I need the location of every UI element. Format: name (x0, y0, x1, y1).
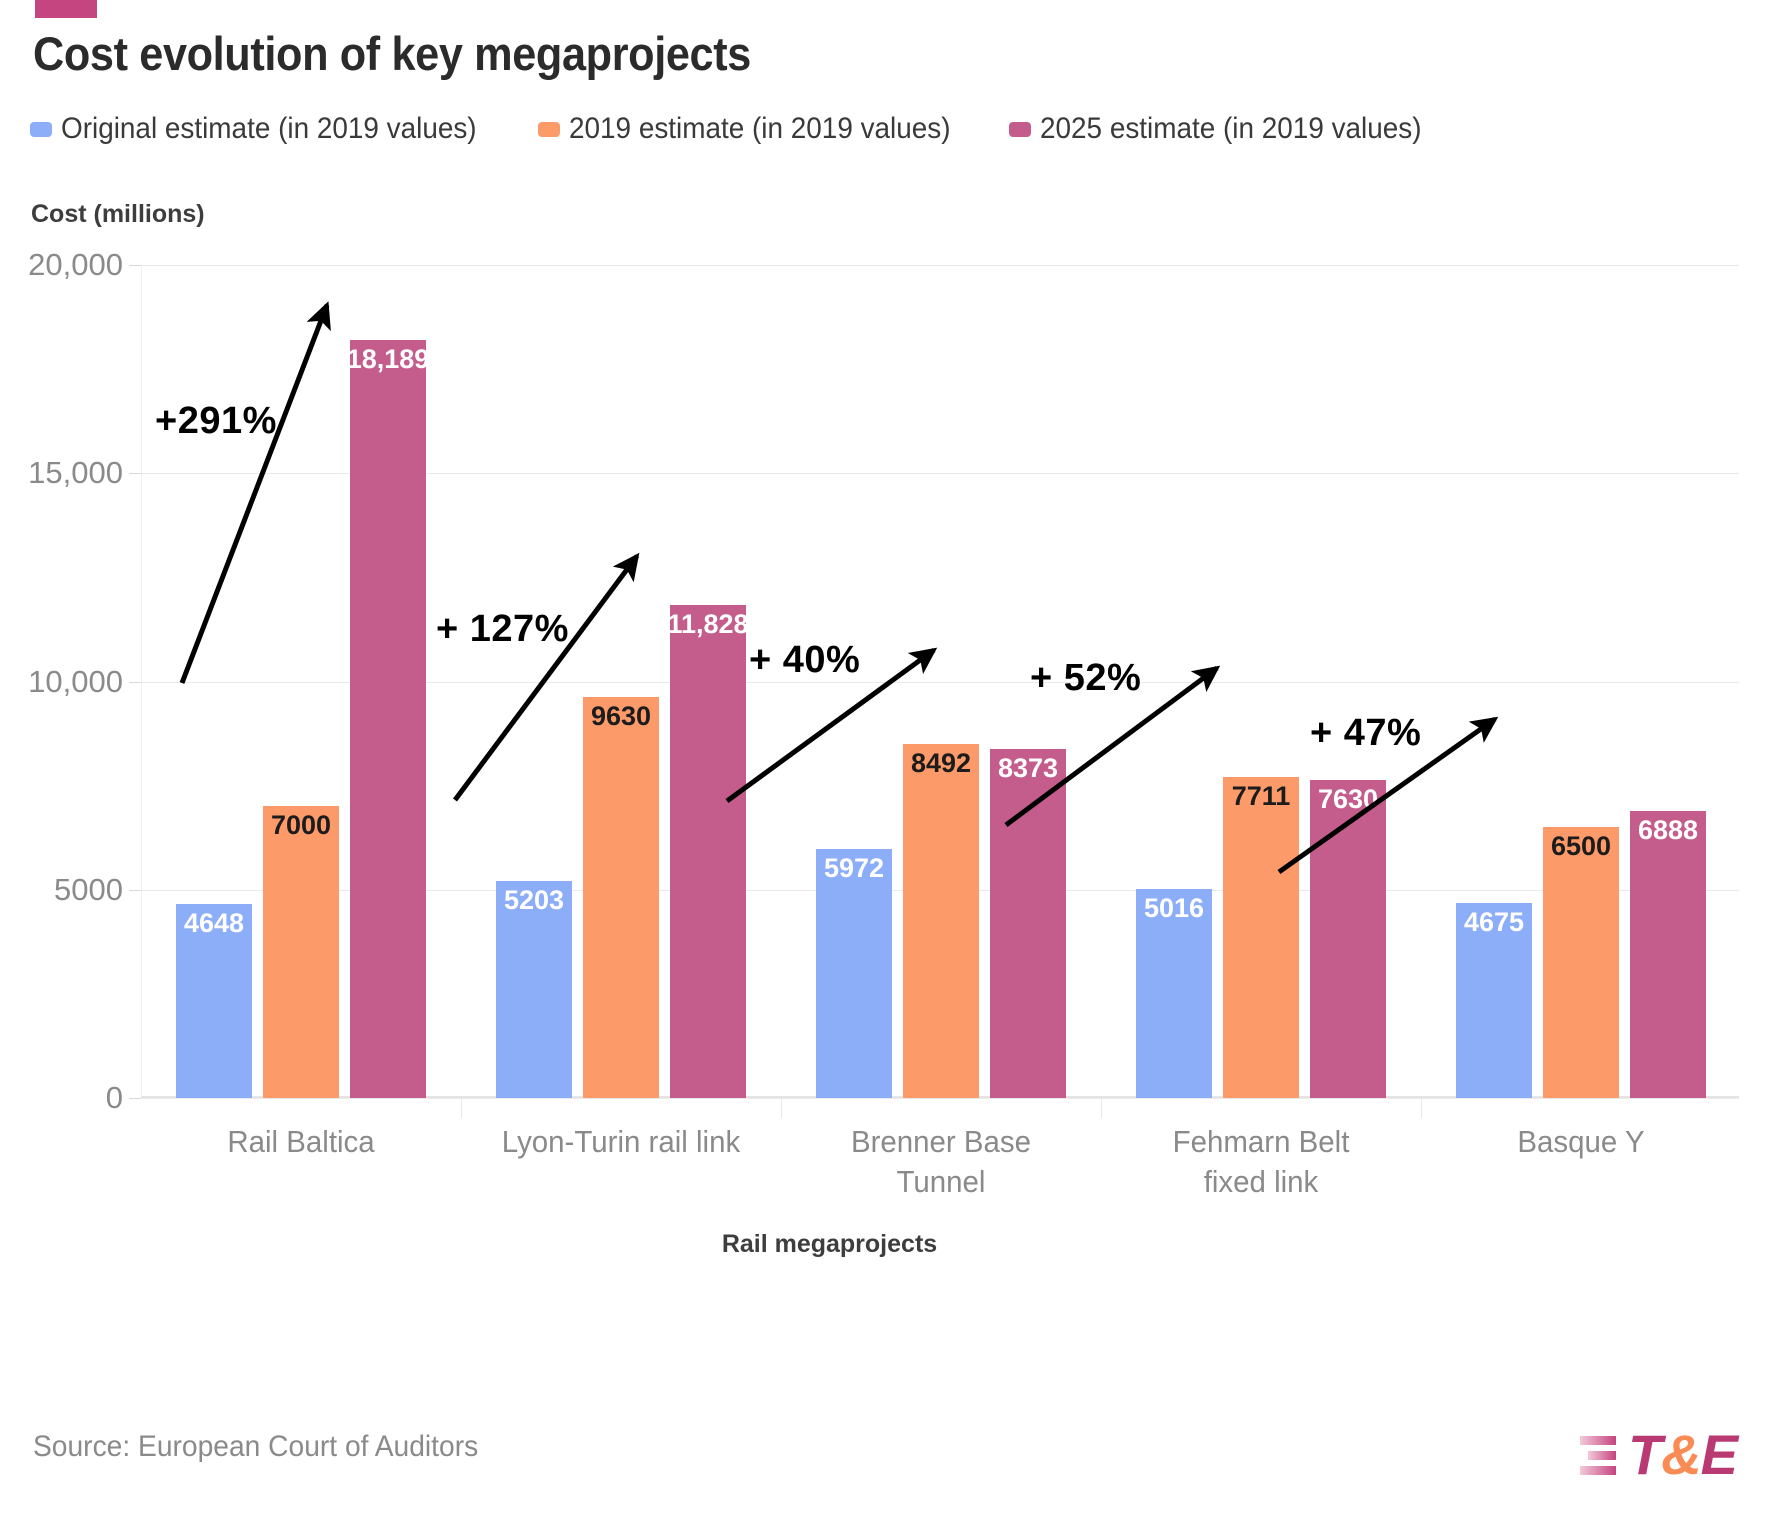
annotation-lyon-turin: + 127% (436, 608, 569, 651)
bar-2025-estimate[interactable]: 6888 (1630, 811, 1706, 1098)
bar-value-label: 9630 (591, 703, 651, 730)
bar-value-label: 7000 (271, 812, 331, 839)
y-tick-label: 15,000 (28, 455, 123, 491)
source-note: Source: European Court of Auditors (33, 1430, 478, 1464)
bar-2019-estimate[interactable]: 7711 (1223, 777, 1299, 1098)
legend-item-2025-estimate[interactable]: 2025 estimate (in 2019 values) (1009, 112, 1450, 146)
bar-original-estimate[interactable]: 4648 (176, 904, 252, 1098)
te-logo-ampersand: & (1661, 1423, 1700, 1486)
bar-group-rail-baltica: 4648 7000 18,189 (141, 265, 461, 1098)
x-tick (461, 1098, 462, 1118)
bar-value-label: 7630 (1318, 786, 1378, 813)
bar-value-label: 8373 (998, 755, 1058, 782)
legend-item-2019-estimate[interactable]: 2019 estimate (in 2019 values) (538, 112, 979, 146)
bar-value-label: 11,828 (667, 611, 748, 638)
bar-value-label: 8492 (911, 750, 971, 777)
legend-label: 2019 estimate (in 2019 values) (569, 112, 951, 146)
tickmark (129, 473, 141, 474)
bar-original-estimate[interactable]: 5016 (1136, 889, 1212, 1098)
te-logo-text: T&E (1628, 1427, 1737, 1483)
bar-original-estimate[interactable]: 4675 (1456, 903, 1532, 1098)
x-category-line: Rail Baltica (149, 1122, 453, 1162)
brand-accent-tab (35, 0, 97, 18)
chart-legend: Original estimate (in 2019 values) 2019 … (30, 112, 1480, 146)
legend-swatch-icon (30, 122, 52, 137)
bar-value-label: 5016 (1144, 895, 1204, 922)
te-logo-t: T (1628, 1423, 1661, 1486)
bar-2025-estimate[interactable]: 18,189 (350, 340, 426, 1098)
x-tick (1421, 1098, 1422, 1118)
bar-original-estimate[interactable]: 5972 (816, 849, 892, 1098)
legend-label: Original estimate (in 2019 values) (61, 112, 477, 146)
y-tick-label: 20,000 (28, 247, 123, 283)
annotation-fehmarn: + 52% (1030, 657, 1141, 700)
x-category-label-lyon-turin-rail-link: Lyon-Turin rail link (469, 1122, 773, 1162)
y-axis-title: Cost (millions) (31, 200, 205, 229)
page-title: Cost evolution of key megaprojects (33, 26, 751, 81)
bar-group-lyon-turin-rail-link: 5203 9630 11,828 (461, 265, 781, 1098)
tickmark (129, 1098, 141, 1099)
legend-label: 2025 estimate (in 2019 values) (1040, 112, 1422, 146)
bar-2019-estimate[interactable]: 6500 (1543, 827, 1619, 1098)
annotation-basque-y: + 47% (1310, 712, 1421, 755)
x-category-line: Tunnel (789, 1162, 1093, 1202)
x-category-line: Basque Y (1429, 1122, 1733, 1162)
bar-group-fehmarn-belt-fixed-link: 5016 7711 7630 (1101, 265, 1421, 1098)
x-category-label-basque-y: Basque Y (1429, 1122, 1733, 1162)
gridline-0: 0 (141, 1098, 1739, 1099)
bar-2025-estimate[interactable]: 11,828 (670, 605, 746, 1098)
y-tick-label: 5000 (54, 872, 123, 908)
x-axis-title: Rail megaprojects (722, 1230, 937, 1258)
bar-value-label: 4675 (1464, 909, 1524, 936)
legend-swatch-icon (538, 122, 560, 137)
bar-value-label: 4648 (184, 910, 244, 937)
x-category-line: fixed link (1109, 1162, 1413, 1202)
bar-2019-estimate[interactable]: 8492 (903, 744, 979, 1098)
x-category-line: Lyon-Turin rail link (469, 1122, 773, 1162)
te-logo-stripes-icon (1580, 1429, 1616, 1481)
annotation-brenner: + 40% (749, 639, 860, 682)
bar-original-estimate[interactable]: 5203 (496, 881, 572, 1098)
legend-swatch-icon (1009, 122, 1031, 137)
x-category-label-rail-baltica: Rail Baltica (149, 1122, 453, 1162)
bar-2025-estimate[interactable]: 7630 (1310, 780, 1386, 1098)
bar-2025-estimate[interactable]: 8373 (990, 749, 1066, 1098)
x-category-line: Fehmarn Belt (1109, 1122, 1413, 1162)
annotation-rail-baltica: +291% (155, 400, 277, 443)
bar-2019-estimate[interactable]: 9630 (583, 697, 659, 1098)
x-tick (781, 1098, 782, 1118)
bar-value-label: 18,189 (347, 346, 430, 373)
chart-plot-area: 20,000 15,000 10,000 5000 0 4648 7000 18… (141, 265, 1739, 1098)
te-logo: T&E (1580, 1425, 1737, 1485)
y-tick-label: 10,000 (28, 664, 123, 700)
bar-value-label: 6888 (1638, 817, 1698, 844)
bar-value-label: 5203 (504, 887, 564, 914)
bar-value-label: 6500 (1551, 833, 1611, 860)
bar-group-basque-y: 4675 6500 6888 (1421, 265, 1741, 1098)
tickmark (129, 890, 141, 891)
bar-2019-estimate[interactable]: 7000 (263, 806, 339, 1098)
legend-item-original-estimate[interactable]: Original estimate (in 2019 values) (30, 112, 508, 146)
bar-value-label: 7711 (1232, 783, 1291, 810)
tickmark (129, 265, 141, 266)
x-tick (1101, 1098, 1102, 1118)
tickmark (129, 682, 141, 683)
x-category-line: Brenner Base (789, 1122, 1093, 1162)
y-tick-label: 0 (106, 1080, 123, 1116)
x-category-label-fehmarn-belt-fixed-link: Fehmarn Belt fixed link (1109, 1122, 1413, 1201)
x-category-label-brenner-base-tunnel: Brenner Base Tunnel (789, 1122, 1093, 1201)
bar-value-label: 5972 (824, 855, 884, 882)
te-logo-e: E (1701, 1423, 1737, 1486)
x-axis-title-wrap: Rail megaprojects (0, 1230, 1767, 1259)
